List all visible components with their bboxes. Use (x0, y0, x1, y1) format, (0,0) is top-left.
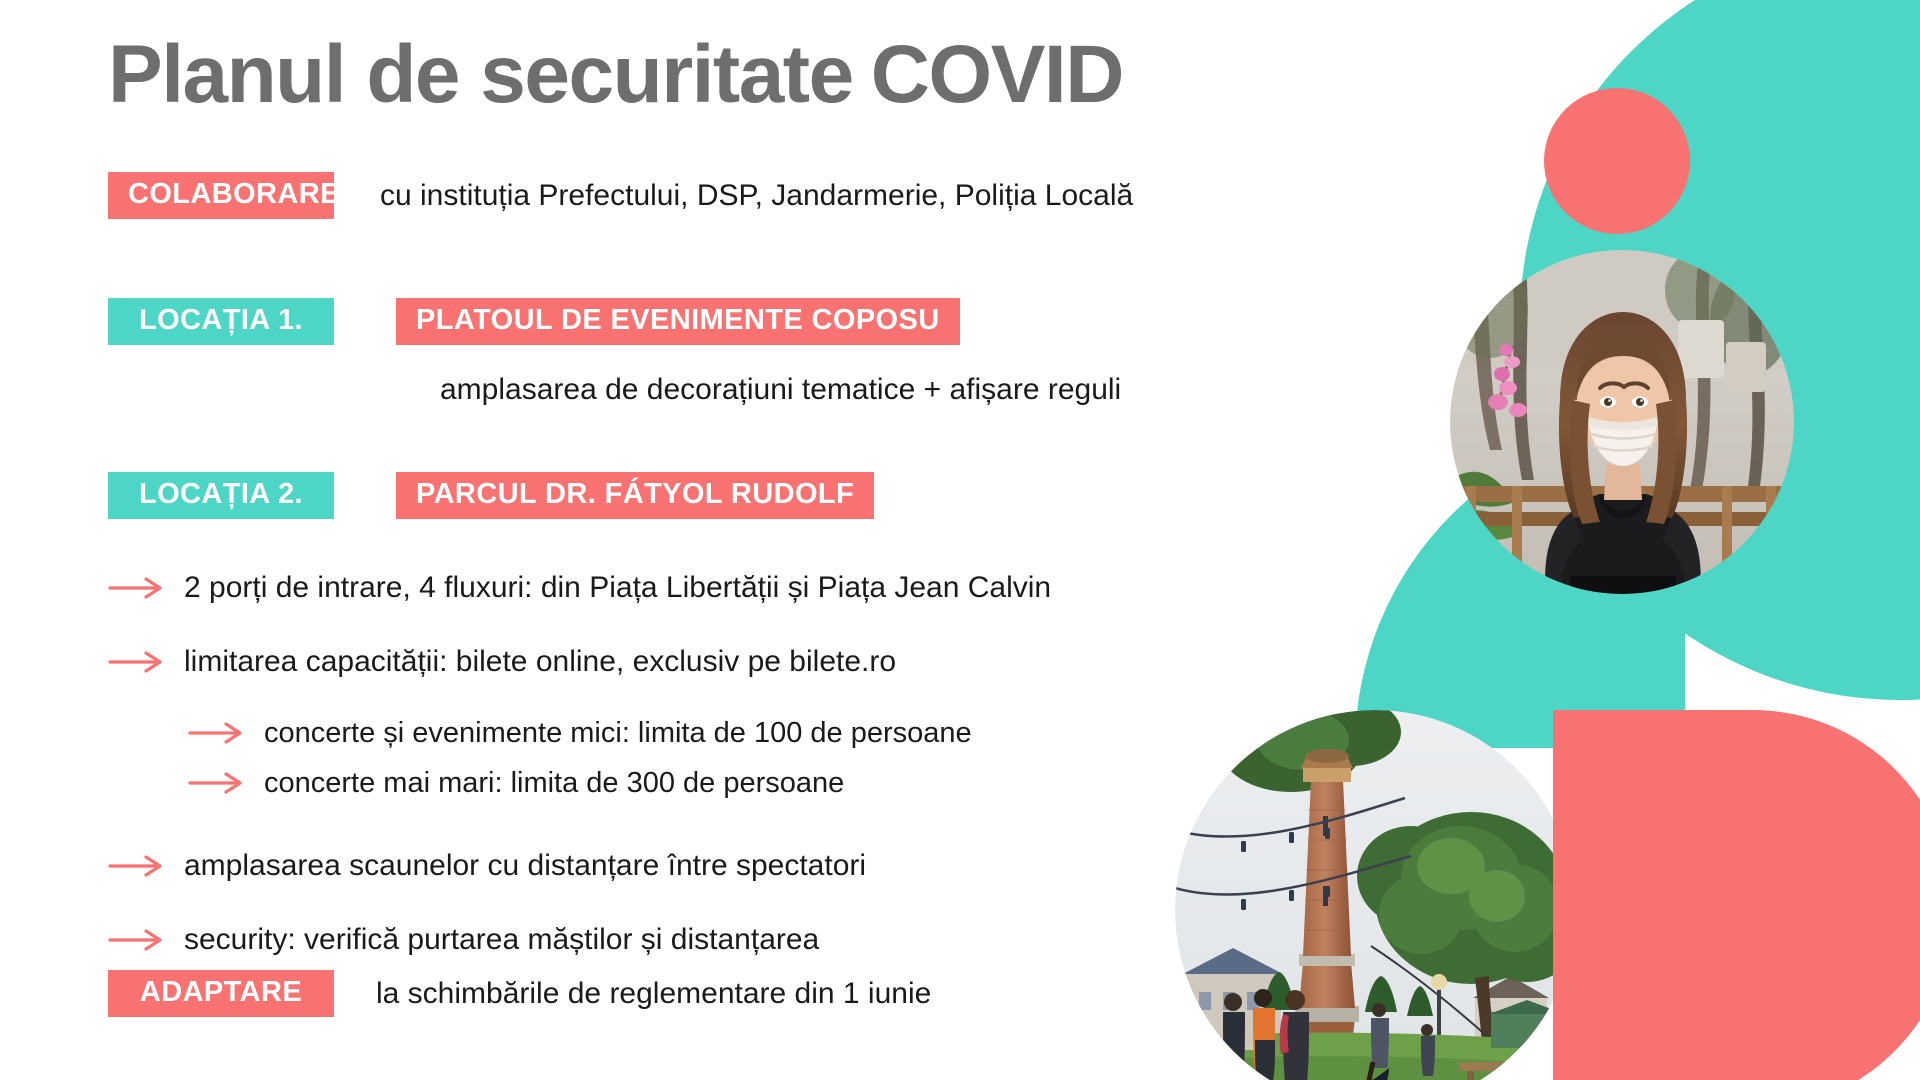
list-item-text: concerte și evenimente mici: limita de 1… (264, 717, 972, 750)
list-item-text: amplasarea scaunelor cu distanțare între… (184, 849, 866, 883)
spacer (108, 616, 1388, 634)
list-item-text: 2 porți de intrare, 4 fluxuri: din Piața… (184, 571, 1051, 605)
page-title-accent: COVID (871, 29, 1123, 120)
slide-canvas: Planul de securitateCOVID COLABORARE cu … (0, 0, 1920, 1080)
arrow-right-icon (188, 770, 248, 796)
coral-half-circle (1553, 710, 1920, 1080)
page-title: Planul de securitateCOVID (108, 30, 1123, 120)
arrow-right-icon (108, 853, 168, 879)
list-item: concerte și evenimente mici: limita de 1… (188, 708, 1388, 758)
list-item-text: limitarea capacității: bilete online, ex… (184, 645, 896, 679)
badge-venue-fatyol[interactable]: PARCUL DR. FÁTYOL RUDOLF (396, 472, 874, 519)
spacer (108, 690, 1388, 708)
badge-venue-coposu[interactable]: PLATOUL DE EVENIMENTE COPOSU (396, 298, 960, 345)
badge-colaborare[interactable]: COLABORARE (108, 172, 334, 219)
badge-locatia-2[interactable]: LOCAȚIA 2. (108, 472, 334, 519)
row-colaborare: COLABORARE cu instituția Prefectului, DS… (108, 172, 1133, 219)
list-item: 2 porți de intrare, 4 fluxuri: din Piața… (108, 560, 1388, 616)
adaptare-text: la schimbările de reglementare din 1 iun… (376, 977, 931, 1011)
list-item: limitarea capacității: bilete online, ex… (108, 634, 1388, 690)
badge-adaptare[interactable]: ADAPTARE (108, 970, 334, 1017)
arrow-right-icon (108, 649, 168, 675)
locatia-1-description: amplasarea de decorațiuni tematice + afi… (440, 373, 1121, 407)
page-title-main: Planul de securitate (108, 29, 853, 120)
arrow-right-icon (108, 575, 168, 601)
list-item-text: security: verifică purtarea măștilor și … (184, 923, 819, 957)
row-adaptare: ADAPTARE la schimbările de reglementare … (108, 970, 931, 1017)
portrait-photo-illustration (1450, 250, 1794, 594)
coral-circle-small (1544, 88, 1690, 234)
park-photo (1175, 710, 1575, 1080)
portrait-photo (1450, 250, 1794, 594)
arrow-right-icon (108, 927, 168, 953)
row-locatia-1-description: amplasarea de decorațiuni tematice + afi… (440, 373, 1121, 407)
list-item-text: concerte mai mari: limita de 300 de pers… (264, 767, 844, 800)
park-photo-illustration (1175, 710, 1575, 1080)
badge-locatia-1[interactable]: LOCAȚIA 1. (108, 298, 334, 345)
row-locatia-2: LOCAȚIA 2. PARCUL DR. FÁTYOL RUDOLF (108, 472, 874, 519)
colaborare-text: cu instituția Prefectului, DSP, Jandarme… (380, 179, 1133, 213)
arrow-right-icon (188, 720, 248, 746)
row-locatia-1: LOCAȚIA 1. PLATOUL DE EVENIMENTE COPOSU (108, 298, 960, 345)
